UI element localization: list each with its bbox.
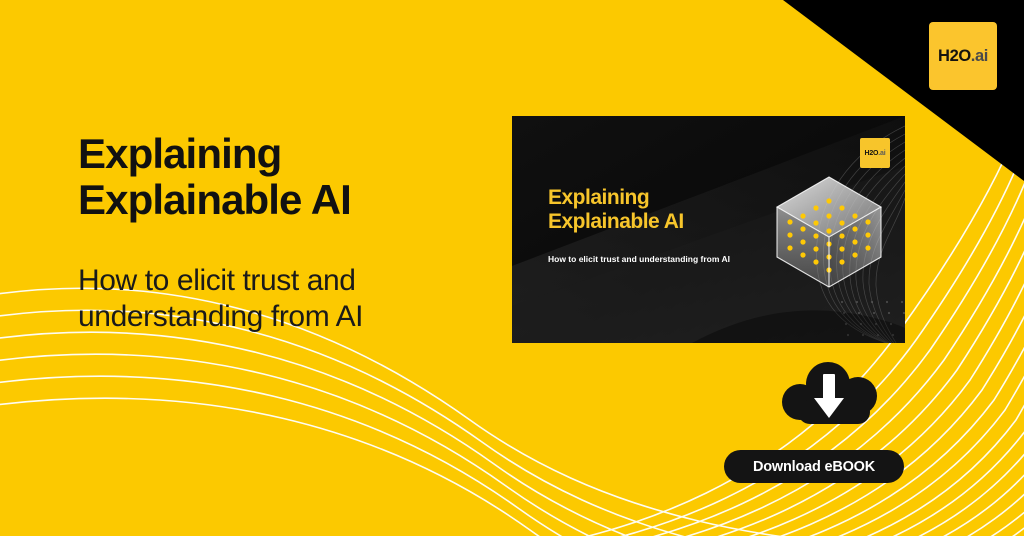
- hero-copy: Explaining Explainable AI How to elicit …: [78, 131, 498, 335]
- ebook-cover-thumbnail[interactable]: Explaining Explainable AI How to elicit …: [512, 116, 905, 343]
- logo-suffix: .ai: [971, 47, 988, 65]
- glass-cube-icon: [760, 163, 898, 301]
- promo-banner: Explaining Explainable AI How to elicit …: [0, 0, 1024, 536]
- cover-title: Explaining Explainable AI: [548, 186, 778, 233]
- logo-name: H2O: [938, 47, 971, 65]
- download-ebook-button[interactable]: Download eBOOK: [724, 450, 904, 483]
- logo-wordmark: H2O.ai: [938, 47, 988, 66]
- h2o-logo-badge[interactable]: H2O.ai: [929, 22, 997, 90]
- cover-logo-wordmark: H2O.ai: [865, 150, 886, 157]
- download-ebook-label: Download eBOOK: [753, 459, 875, 475]
- cloud-download-icon[interactable]: [776, 362, 892, 428]
- cover-logo-name: H2O: [865, 150, 879, 157]
- hero-subtitle: How to elicit trust and understanding fr…: [78, 263, 498, 335]
- page-title: Explaining Explainable AI: [78, 131, 498, 223]
- cover-logo-suffix: .ai: [878, 150, 885, 157]
